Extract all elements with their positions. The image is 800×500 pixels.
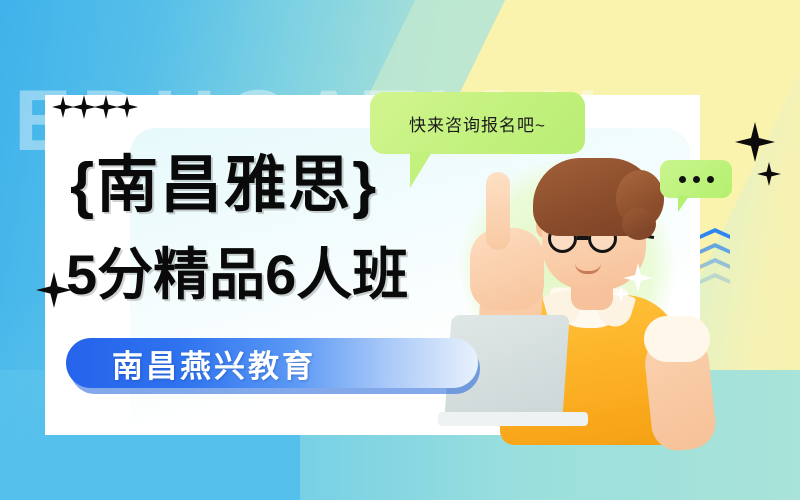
chevron-up-4-icon [700,273,730,284]
page-subtitle: 5分精品6人班 [66,247,408,303]
dot-2 [693,176,700,183]
speech-bubble-text: 快来咨询报名吧~ [409,111,546,136]
character-hair-bun-lower [622,208,656,240]
chevron-up-3-icon [700,258,730,269]
dot-1 [679,176,686,183]
character-right-sleeve [644,316,710,362]
page-title: {南昌雅思} [70,155,378,217]
brand-banner-pill: 南昌燕兴教育 [66,338,478,388]
promo-poster: EDUCATION 快来咨询报名吧~ [0,0,800,500]
glasses-bridge [577,236,588,240]
dot-3 [707,176,714,183]
chevron-up-2-icon [700,243,730,254]
speech-bubble-dots [660,160,732,198]
laptop-base [438,412,588,426]
speech-bubble-cta: 快来咨询报名吧~ [370,92,585,154]
character-pointing-finger [486,172,510,250]
chevron-up-group [700,228,734,290]
brand-name: 南昌燕兴教育 [112,341,316,386]
brand-banner: 南昌燕兴教育 [66,338,486,394]
chevron-up-1-icon [700,228,730,239]
